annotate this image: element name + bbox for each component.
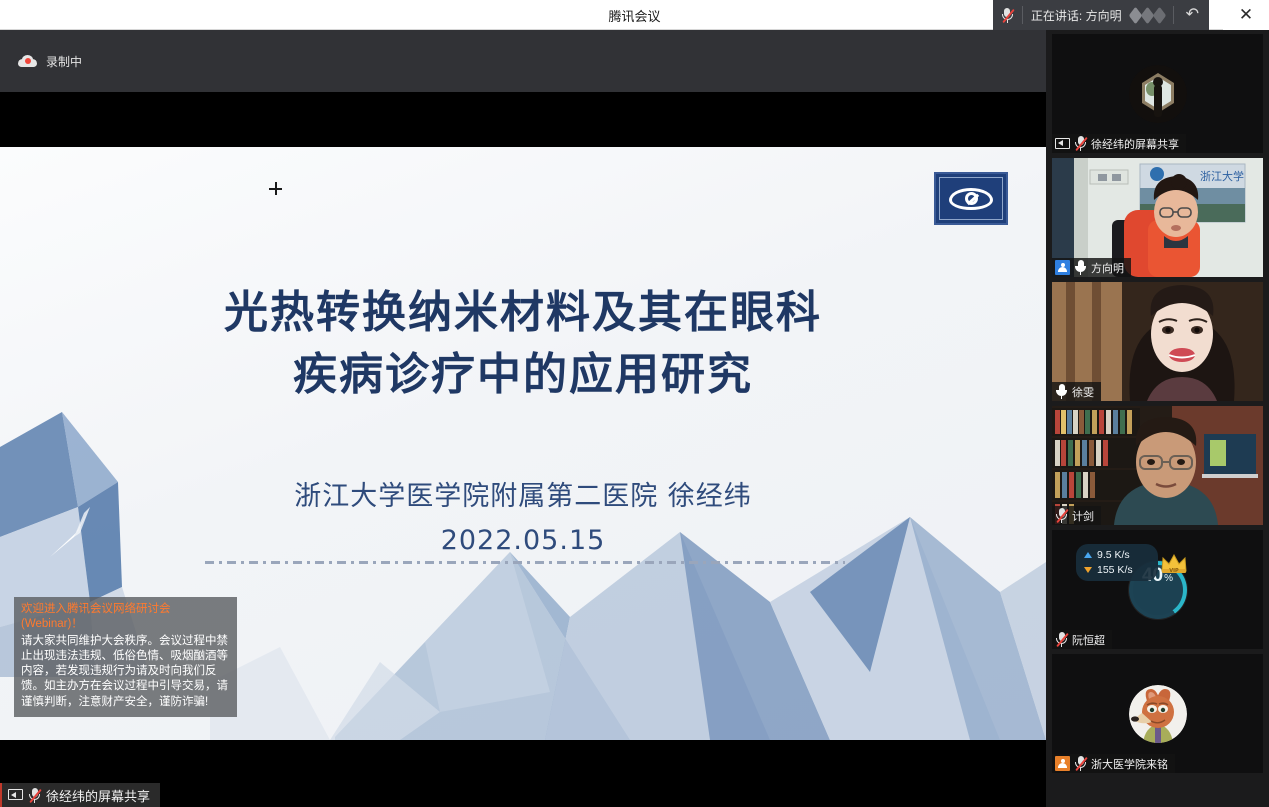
person-icon [1055, 756, 1070, 771]
participant-name: 方向明 [1091, 260, 1124, 276]
vip-crown-icon: VIP [1161, 554, 1187, 573]
close-icon[interactable]: ✕ [1223, 0, 1269, 30]
mic-muted-icon [1055, 507, 1068, 524]
slide-date: 2022.05.15 [0, 525, 1046, 556]
speaking-status: 正在讲话: 方向明 [1031, 7, 1122, 24]
mic-muted-icon [1074, 135, 1087, 152]
notice-body: 请大家共同维护大会秩序。会议过程中禁止出现违法违规、低俗色情、吸烟酗酒等内容，若… [21, 634, 230, 710]
mic-on-icon [1055, 383, 1068, 400]
tile-label: 徐雯 [1052, 382, 1101, 401]
participant-name: 浙大医学院来铭 [1091, 756, 1168, 772]
participant-name: 徐雯 [1072, 384, 1094, 400]
eye-logo-icon [934, 172, 1008, 225]
participant-name: 阮恒超 [1072, 632, 1105, 648]
recording-bar: 录制中 [0, 30, 1046, 92]
participant-name: 计剑 [1072, 508, 1094, 524]
mic-on-icon [1074, 259, 1087, 276]
share-status-label: 徐经纬的屏幕共享 [46, 786, 150, 805]
shared-screen-stage: 录制中 [0, 30, 1046, 807]
title-bar: 腾讯会议 正在讲话: 方向明 ↶ ✕ [0, 0, 1269, 30]
download-row: 155 K/s [1084, 564, 1150, 576]
participant-panel[interactable]: 徐经纬的屏幕共享 浙江大学 [1046, 30, 1269, 807]
tile-label: 方向明 [1052, 258, 1131, 277]
upload-speed: 9.5 K/s [1097, 549, 1130, 561]
person-icon [1055, 260, 1070, 275]
participant-tile[interactable]: 徐雯 [1052, 282, 1263, 401]
arrow-down-icon [1084, 567, 1092, 573]
tile-label: 计剑 [1052, 506, 1101, 525]
logo-inner-frame [939, 177, 1003, 220]
title-divider [205, 561, 845, 564]
slide-subtitle: 浙江大学医学院附属第二医院 徐经纬 [0, 474, 1046, 513]
participant-tile[interactable]: 浙大医学院来铭 [1052, 654, 1263, 773]
cloud-record-icon [18, 55, 37, 67]
back-arrow-icon[interactable]: ↶ [1182, 7, 1203, 23]
participant-tile[interactable]: 浙江大学 [1052, 158, 1263, 277]
participant-tile[interactable]: 计剑 [1052, 406, 1263, 525]
participant-tile[interactable]: 40 % VIP 9.5 K/s [1052, 530, 1263, 649]
tile-label: 徐经纬的屏幕共享 [1052, 134, 1186, 153]
eye-shape [949, 188, 993, 210]
title-bar-right-group: 正在讲话: 方向明 ↶ [993, 0, 1209, 30]
mic-muted-icon[interactable] [1001, 7, 1014, 24]
mic-muted-icon [28, 787, 41, 804]
participant-tile[interactable]: 徐经纬的屏幕共享 [1052, 34, 1263, 153]
slide-title: 光热转换纳米材料及其在眼科 疾病诊疗中的应用研究 [0, 282, 1046, 407]
divider [1022, 6, 1023, 24]
recording-label: 录制中 [46, 53, 82, 70]
notice-heading: 欢迎进入腾讯会议网络研讨会(Webinar)！ [21, 602, 230, 633]
slide-title-line2: 疾病诊疗中的应用研究 [0, 344, 1046, 406]
stage-footer: 徐经纬的屏幕共享 [0, 740, 1046, 807]
speed-readout: 9.5 K/s 155 K/s [1076, 544, 1158, 581]
participant-name: 徐经纬的屏幕共享 [1091, 136, 1179, 152]
screen-share-icon [8, 789, 23, 801]
divider [1173, 6, 1174, 24]
screen-share-icon [1055, 138, 1070, 150]
svg-text:VIP: VIP [1169, 568, 1179, 573]
slide-title-line1: 光热转换纳米材料及其在眼科 [0, 282, 1046, 344]
mic-muted-icon [1055, 631, 1068, 648]
tile-label: 阮恒超 [1052, 630, 1112, 649]
signal-wave-icon [1130, 10, 1165, 21]
svg-text:浙江大学: 浙江大学 [1200, 169, 1244, 183]
upload-row: 9.5 K/s [1084, 549, 1150, 561]
tile-label: 浙大医学院来铭 [1052, 754, 1175, 773]
eye-pupil [965, 192, 978, 205]
avatar-image [1129, 65, 1187, 123]
percent-symbol: % [1164, 573, 1173, 584]
letterbox-top [0, 92, 1046, 147]
presentation-slide: 光热转换纳米材料及其在眼科 疾病诊疗中的应用研究 浙江大学医学院附属第二医院 徐… [0, 147, 1046, 740]
webinar-notice: 欢迎进入腾讯会议网络研讨会(Webinar)！ 请大家共同维护大会秩序。会议过程… [14, 597, 237, 717]
meeting-window: 腾讯会议 正在讲话: 方向明 ↶ ✕ 录制中 [0, 0, 1269, 807]
arrow-up-icon [1084, 552, 1092, 558]
share-status-tag: 徐经纬的屏幕共享 [0, 783, 160, 807]
mic-muted-icon [1074, 755, 1087, 772]
avatar-image [1129, 685, 1187, 743]
download-speed: 155 K/s [1097, 564, 1133, 576]
